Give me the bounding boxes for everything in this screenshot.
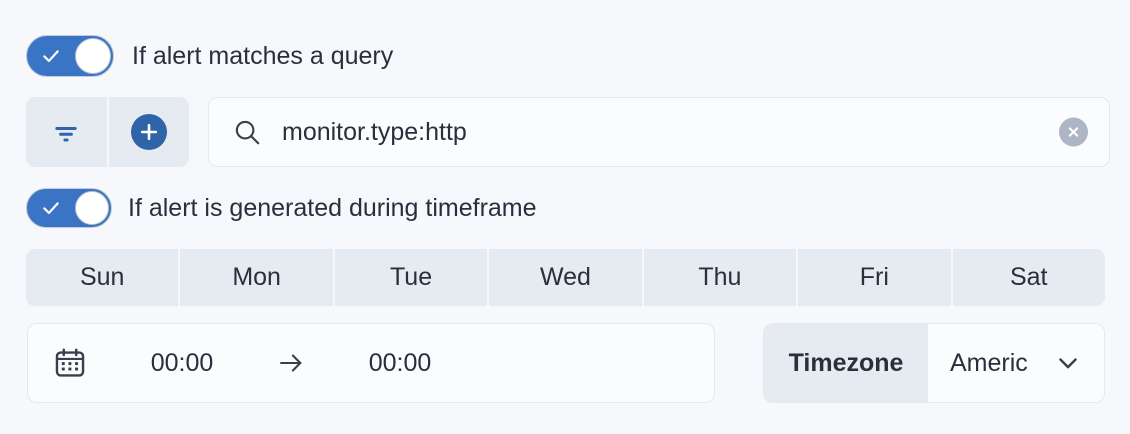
end-time-value[interactable]: 00:00: [305, 349, 495, 378]
query-toggle-switch[interactable]: [26, 35, 114, 77]
time-range-picker[interactable]: 00:00 00:00: [27, 323, 715, 403]
calendar-icon: [53, 346, 87, 380]
day-of-week-selector: Sun Mon Tue Wed Thu Fri Sat: [26, 249, 1105, 306]
plus-circle-icon: [131, 114, 167, 150]
alert-conditions-panel: If alert matches a query: [0, 0, 1130, 434]
filter-icon: [51, 117, 81, 147]
query-button-group: [26, 97, 189, 167]
day-button-tue[interactable]: Tue: [333, 249, 487, 306]
day-button-sun[interactable]: Sun: [26, 249, 178, 306]
timezone-value: Americ: [950, 349, 1028, 378]
check-icon: [41, 198, 61, 218]
close-icon: [1065, 124, 1082, 141]
timezone-control: Timezone Americ: [763, 323, 1105, 403]
toggle-knob: [75, 191, 109, 225]
day-button-sat[interactable]: Sat: [951, 249, 1105, 306]
timeframe-toggle-label: If alert is generated during timeframe: [128, 196, 537, 221]
chevron-down-icon: [1054, 349, 1082, 377]
check-icon: [41, 46, 61, 66]
query-search-value: monitor.type:http: [282, 118, 467, 147]
timeframe-toggle-row: If alert is generated during timeframe: [26, 188, 537, 228]
timeframe-toggle-switch[interactable]: [26, 188, 112, 228]
query-toggle-row: If alert matches a query: [26, 35, 393, 77]
timezone-select[interactable]: Americ: [928, 324, 1104, 402]
day-button-thu[interactable]: Thu: [642, 249, 796, 306]
toggle-knob: [75, 38, 111, 74]
query-input-row: monitor.type:http: [26, 97, 1110, 167]
add-filter-button[interactable]: [107, 97, 190, 167]
search-icon: [232, 117, 262, 147]
day-button-mon[interactable]: Mon: [178, 249, 332, 306]
clear-search-button[interactable]: [1059, 118, 1088, 147]
day-button-wed[interactable]: Wed: [487, 249, 641, 306]
filter-button[interactable]: [26, 97, 107, 167]
arrow-right-icon: [277, 349, 305, 377]
plus-icon: [137, 120, 161, 144]
query-search-input[interactable]: monitor.type:http: [208, 97, 1110, 167]
day-button-fri[interactable]: Fri: [796, 249, 950, 306]
query-toggle-label: If alert matches a query: [132, 44, 393, 69]
timezone-label: Timezone: [764, 324, 928, 402]
start-time-value[interactable]: 00:00: [87, 349, 277, 378]
